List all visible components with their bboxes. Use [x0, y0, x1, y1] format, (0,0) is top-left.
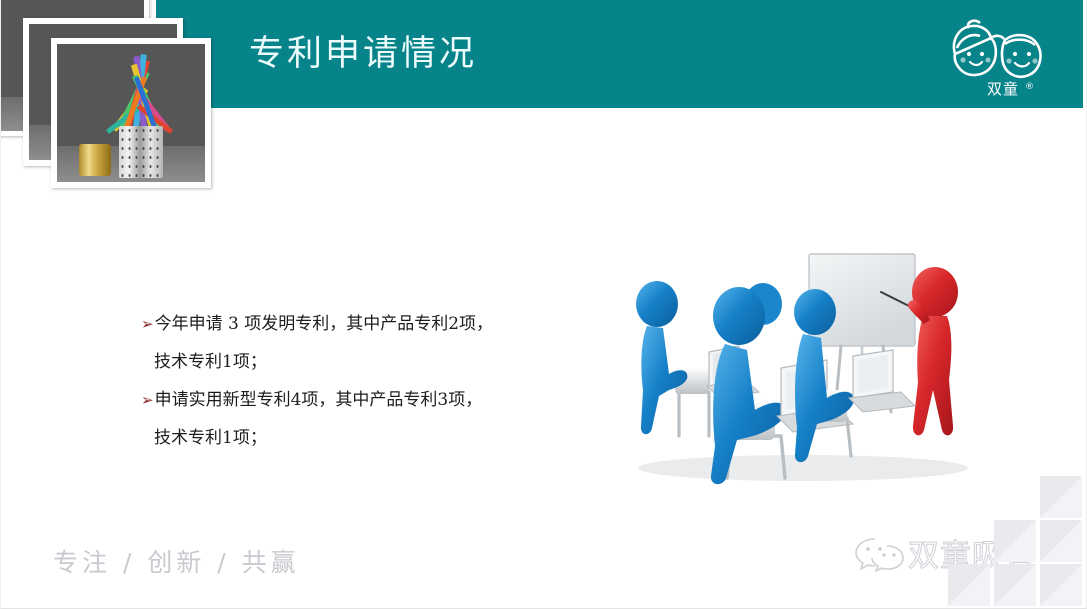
classroom-training-illustration — [613, 240, 991, 488]
footer-tagline: 专注 / 创新 / 共赢 — [53, 543, 300, 579]
bullet-item-2-line-1: ➢申请实用新型专利4项，其中产品专利3项， — [141, 381, 571, 419]
photo-frame-front — [51, 38, 211, 188]
bullet-list: ➢今年申请 3 项发明专利，其中产品专利2项， 技术专利1项； ➢申请实用新型专… — [141, 305, 571, 457]
bullet-item-1-line-2: 技术专利1项； — [141, 343, 571, 381]
photo-image — [57, 44, 205, 182]
bullet-arrow-icon: ➢ — [141, 391, 154, 409]
classroom-figures-graphic — [613, 240, 991, 488]
bullet-item-2-line-2: 技术专利1项； — [141, 419, 571, 457]
wechat-icon — [853, 534, 905, 572]
registered-mark: ® — [1025, 82, 1034, 92]
bullet-item-1-line-1: ➢今年申请 3 项发明专利，其中产品专利2项， — [141, 305, 571, 343]
bullet-arrow-icon: ➢ — [141, 315, 154, 333]
shuangtong-logo: 双童 ® — [945, 18, 1061, 98]
wechat-account-name: 双童吸管 — [908, 530, 1036, 575]
bullet-text: 今年申请 3 项发明专利，其中产品专利2项， — [155, 314, 493, 334]
page-title: 专利申请情况 — [249, 34, 477, 74]
bullet-text: 申请实用新型专利4项，其中产品专利3项， — [155, 390, 483, 410]
laptop — [849, 350, 915, 412]
logo-brand-text: 双童 — [945, 78, 1061, 99]
wechat-watermark: 双童吸管 — [853, 528, 1043, 576]
slide-canvas: 专利申请情况 — [0, 0, 1087, 609]
